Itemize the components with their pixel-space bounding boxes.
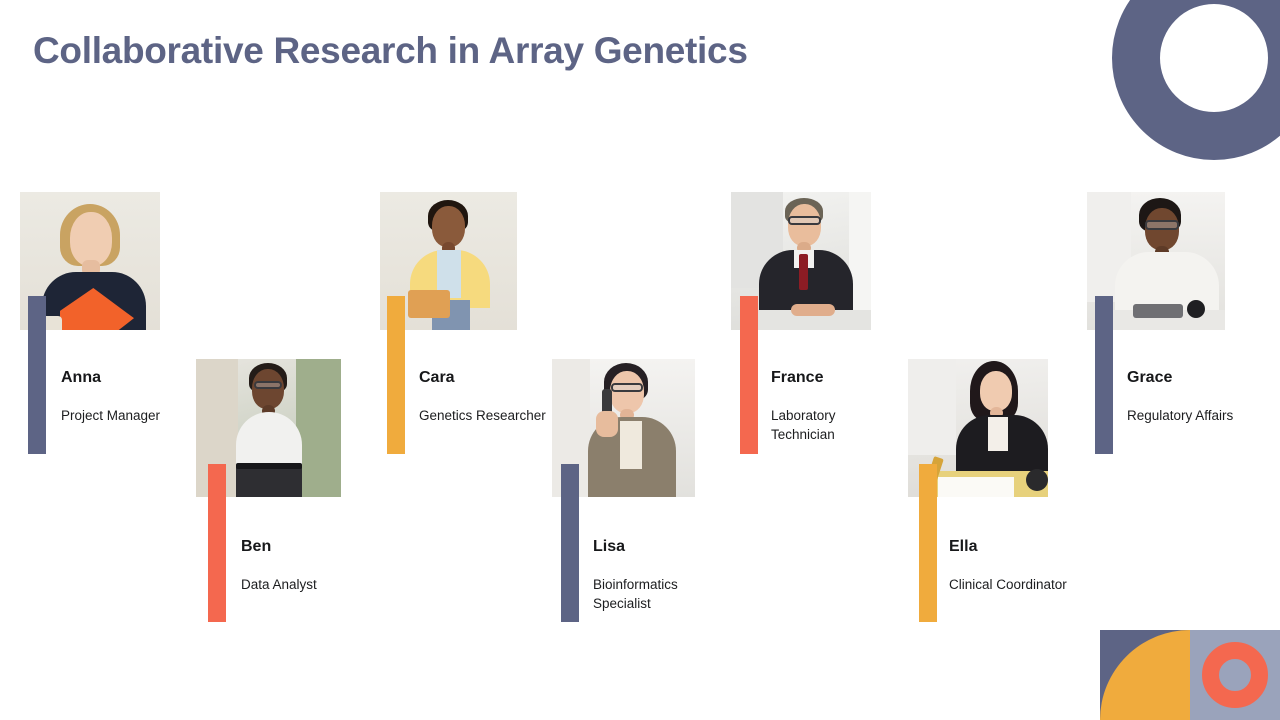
member-role-grace: Regulatory Affairs xyxy=(1127,407,1257,426)
member-name-france: France xyxy=(771,369,823,387)
quarter-circle-decoration xyxy=(1100,630,1190,720)
member-role-ella: Clinical Coordinator xyxy=(949,576,1079,595)
accent-bar-ella xyxy=(919,464,937,622)
coral-ring-decoration xyxy=(1190,630,1280,720)
accent-bar-anna xyxy=(28,296,46,454)
member-name-ben: Ben xyxy=(241,538,271,556)
member-role-anna: Project Manager xyxy=(61,407,191,426)
bottom-right-decoration-group xyxy=(1100,630,1280,720)
member-name-ella: Ella xyxy=(949,538,977,556)
member-role-cara: Genetics Researcher xyxy=(419,407,549,426)
page-title: Collaborative Research in Array Genetics xyxy=(33,30,748,72)
member-name-lisa: Lisa xyxy=(593,538,625,556)
member-name-grace: Grace xyxy=(1127,369,1172,387)
accent-bar-cara xyxy=(387,296,405,454)
member-role-france: Laboratory Technician xyxy=(771,407,901,444)
member-name-anna: Anna xyxy=(61,369,101,387)
top-right-ring-decoration xyxy=(1112,0,1280,160)
coral-ring xyxy=(1202,642,1268,708)
accent-bar-france xyxy=(740,296,758,454)
slide-canvas: Collaborative Research in Array Genetics… xyxy=(0,0,1280,720)
accent-bar-lisa xyxy=(561,464,579,622)
accent-bar-grace xyxy=(1095,296,1113,454)
member-name-cara: Cara xyxy=(419,369,455,387)
member-role-lisa: Bioinformatics Specialist xyxy=(593,576,723,613)
accent-bar-ben xyxy=(208,464,226,622)
member-role-ben: Data Analyst xyxy=(241,576,391,595)
amber-quarter-circle xyxy=(1100,630,1190,720)
